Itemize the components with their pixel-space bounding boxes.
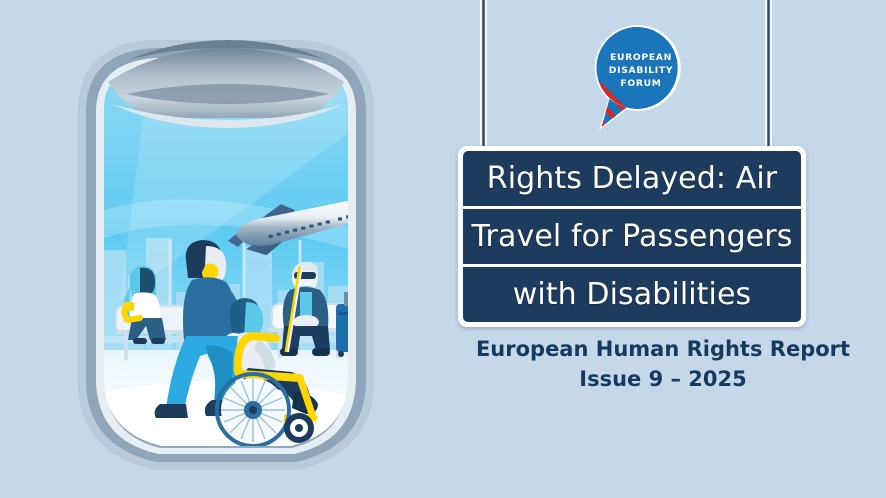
title-line-3: with Disabilities: [463, 264, 801, 322]
subtitle-line-2: Issue 9 – 2025: [440, 364, 886, 394]
report-subtitle: European Human Rights Report Issue 9 – 2…: [440, 334, 886, 394]
wheelchair-axle: [249, 406, 257, 414]
seated-woman-shoe-2: [151, 338, 165, 344]
seated-woman-bag: [124, 302, 134, 311]
title-line-1: Rights Delayed: Air: [463, 151, 801, 206]
seated-woman-shoe-1: [133, 338, 147, 344]
title-sign-board: Rights Delayed: Air Travel for Passenger…: [463, 151, 801, 322]
title-line-2: Travel for Passengers: [463, 206, 801, 264]
title-sign: Rights Delayed: Air Travel for Passenger…: [458, 146, 806, 327]
cane-user-shoe-2: [312, 348, 330, 356]
logo-line-3: FORUM: [620, 78, 661, 89]
sign-hanger-left-rod: [480, 0, 487, 152]
title-panel: EUROPEAN DISABILITY FORUM Rights Delayed…: [440, 0, 886, 498]
airplane-window-illustration: [0, 0, 450, 498]
sign-hanger-right-rod: [765, 0, 772, 152]
subtitle-line-1: European Human Rights Report: [440, 334, 886, 364]
european-disability-forum-logo: EUROPEAN DISABILITY FORUM: [585, 22, 690, 134]
wheelchair-caster-hub: [295, 424, 303, 432]
logo-line-1: EUROPEAN: [610, 52, 672, 63]
logo-line-2: DISABILITY: [609, 65, 673, 76]
poster-canvas: EUROPEAN DISABILITY FORUM Rights Delayed…: [0, 0, 886, 498]
assistant-shoe-1: [155, 404, 188, 418]
